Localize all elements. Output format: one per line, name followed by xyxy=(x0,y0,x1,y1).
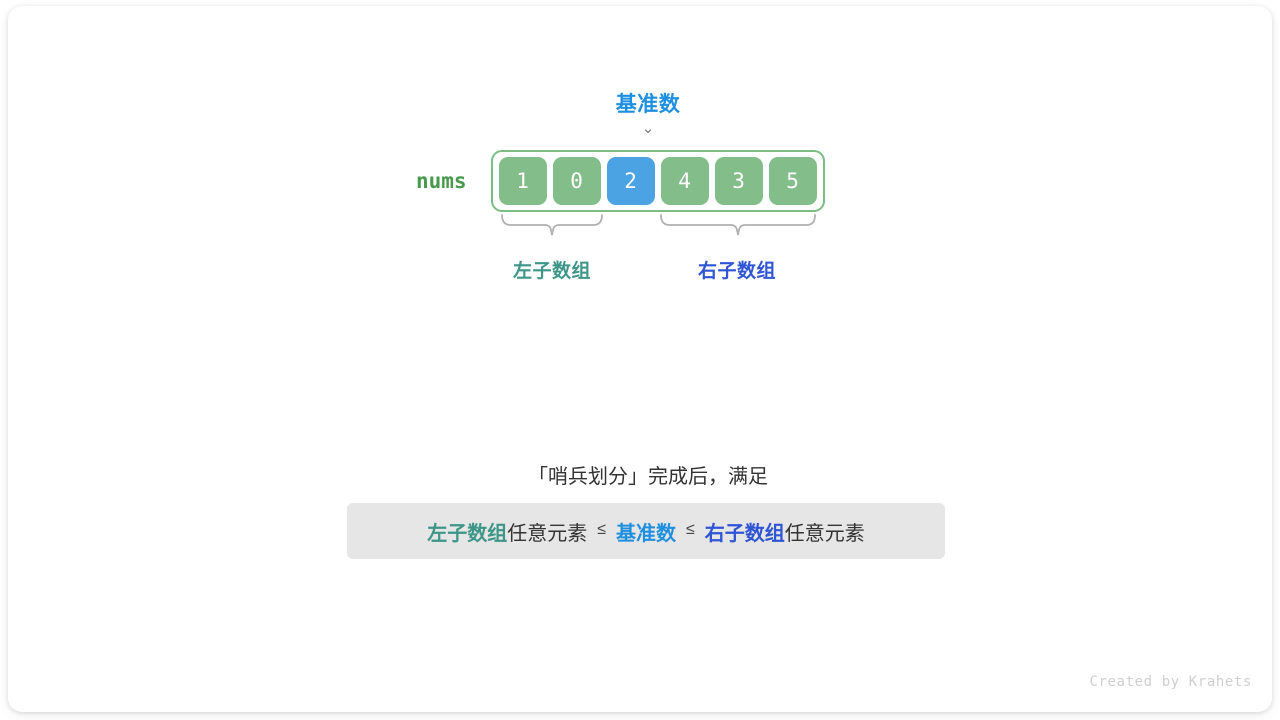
formula-operator-1: ≤ xyxy=(587,521,616,539)
formula-operator-2: ≤ xyxy=(676,521,705,539)
formula-right-suffix: 任意元素 xyxy=(785,517,865,546)
formula-left-group: 左子数组 xyxy=(427,517,507,546)
array-cell[interactable]: 4 xyxy=(661,157,709,205)
diagram-canvas: 基准数 ⌄ nums 1 0 2 4 3 5 左子数组 右子数组 「哨兵划分」完… xyxy=(8,6,1272,712)
array-cell-pivot[interactable]: 2 xyxy=(607,157,655,205)
chevron-down-icon: ⌄ xyxy=(8,121,1280,136)
array-container: 1 0 2 4 3 5 xyxy=(491,150,825,212)
pivot-label: 基准数 xyxy=(8,88,1280,118)
formula-right-group: 右子数组 xyxy=(705,517,785,546)
left-subarray-label: 左子数组 xyxy=(452,256,652,283)
array-name-label: nums xyxy=(416,171,467,192)
right-subarray-brace xyxy=(658,213,818,244)
array-cell[interactable]: 0 xyxy=(553,157,601,205)
array-cell[interactable]: 5 xyxy=(769,157,817,205)
right-subarray-label: 右子数组 xyxy=(637,256,837,283)
watermark: Created by Krahets xyxy=(1089,674,1252,690)
array-cell[interactable]: 3 xyxy=(715,157,763,205)
formula-box: 左子数组 任意元素 ≤ 基准数 ≤ 右子数组 任意元素 xyxy=(347,503,945,559)
array-row: nums 1 0 2 4 3 5 xyxy=(416,151,825,211)
array-cell[interactable]: 1 xyxy=(499,157,547,205)
left-subarray-brace xyxy=(499,213,605,244)
formula-pivot: 基准数 xyxy=(616,517,676,546)
formula-left-suffix: 任意元素 xyxy=(507,517,587,546)
conclusion-text: 「哨兵划分」完成后，满足 xyxy=(8,460,1280,489)
